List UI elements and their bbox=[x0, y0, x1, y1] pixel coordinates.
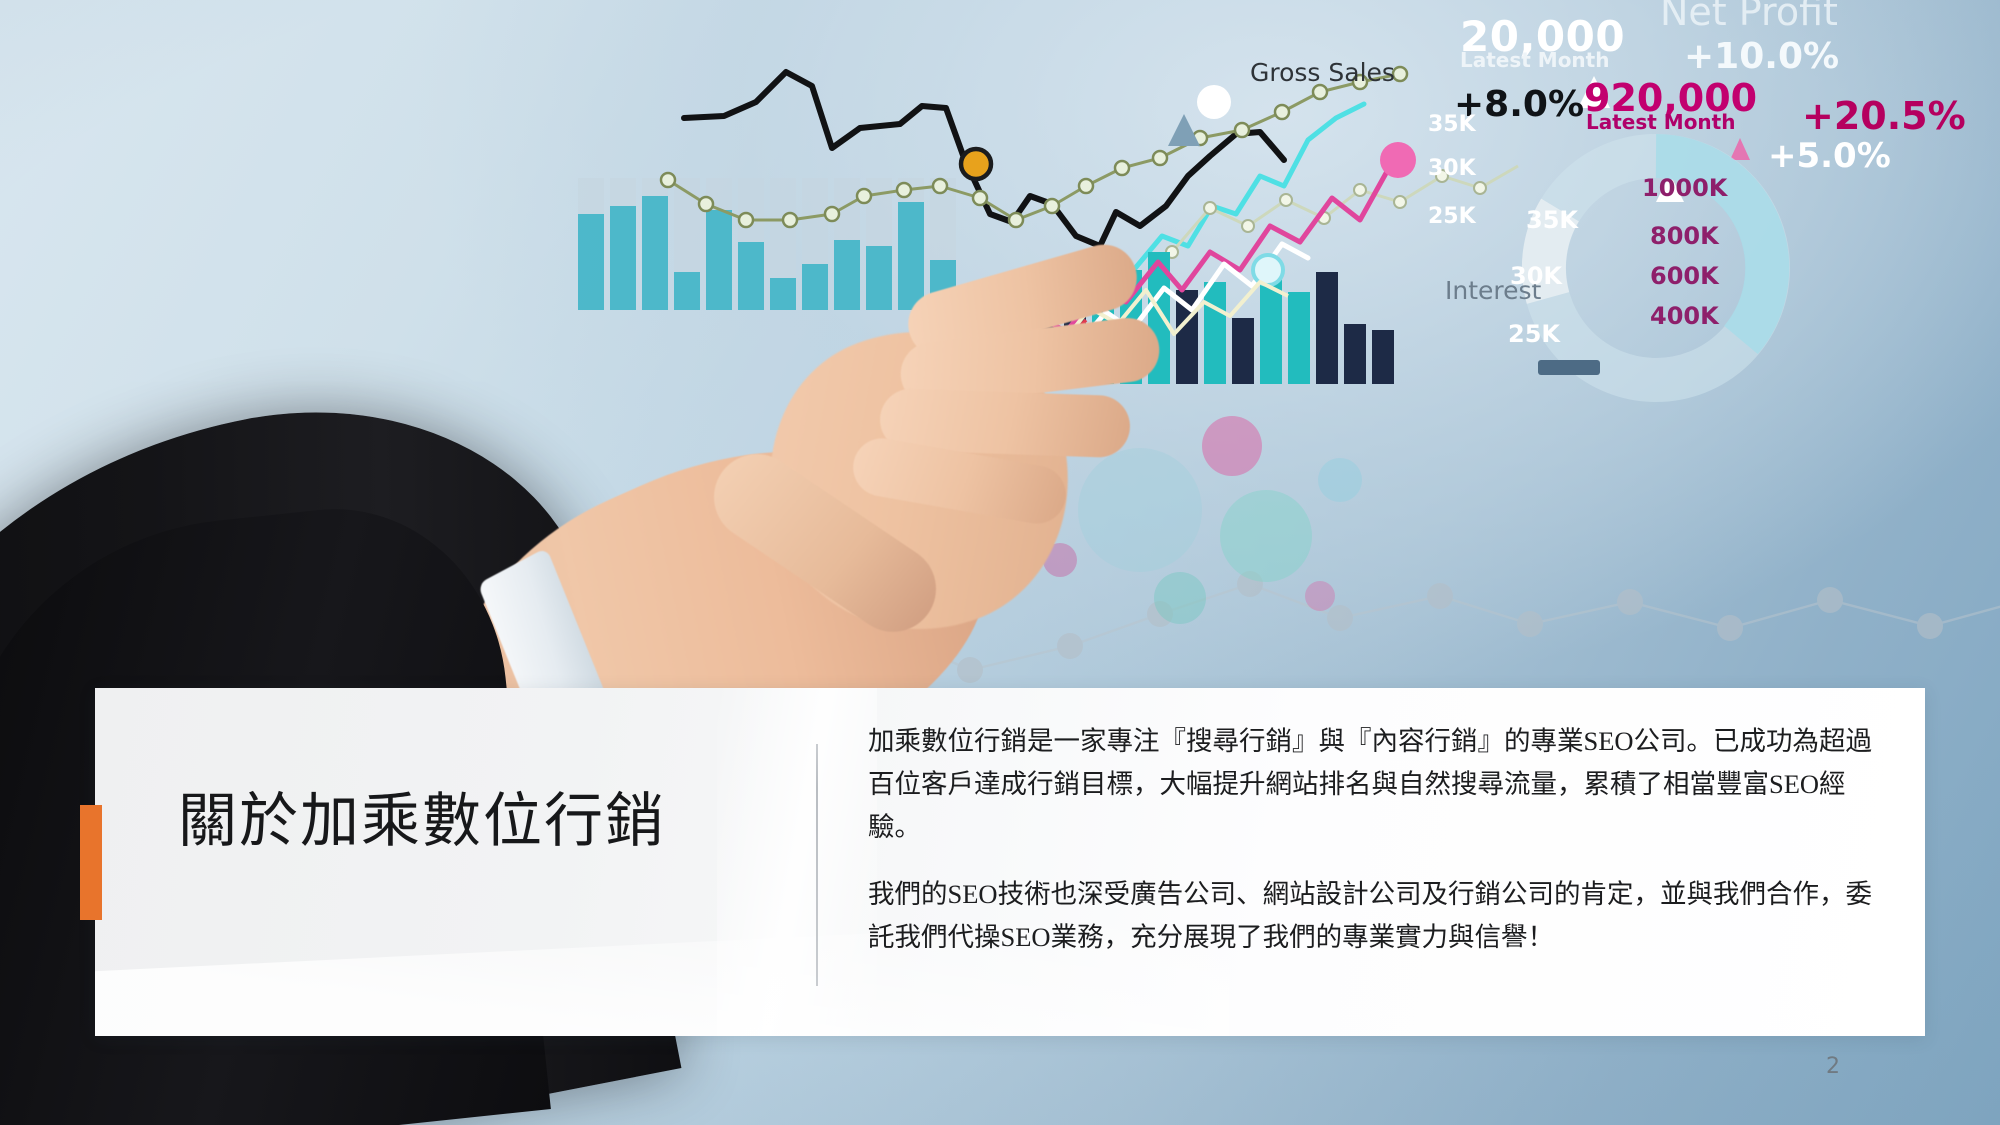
axis-tick-left-30k: 30K bbox=[1428, 156, 1476, 181]
metric-920000-sublabel: Latest Month bbox=[1586, 110, 1735, 134]
axis-tick-left-25k: 25K bbox=[1428, 204, 1476, 229]
metric-pct-205: +20.5% bbox=[1802, 94, 1966, 138]
triangle-up-blue bbox=[1168, 114, 1200, 146]
body-paragraph-1: 加乘數位行銷是一家專注『搜尋行銷』與『內容行銷』的專業SEO公司。已成功為超過百… bbox=[868, 720, 1898, 849]
cyan-dot-marker bbox=[1253, 255, 1283, 285]
white-marker bbox=[1197, 85, 1231, 119]
gross-sales-label: Gross Sales bbox=[1250, 58, 1395, 87]
pink-marker bbox=[1380, 142, 1416, 178]
metric-pct-10: +10.0% bbox=[1684, 36, 1839, 77]
accent-bar bbox=[80, 805, 102, 920]
card-sheen bbox=[717, 688, 877, 1036]
axis-tick-mid-35k: 35K bbox=[1526, 206, 1578, 234]
metric-pct-5: +5.0% bbox=[1768, 136, 1891, 176]
axis-tick-left-35k: 35K bbox=[1428, 112, 1476, 137]
axis-tick-right-1000k: 1000K bbox=[1642, 174, 1727, 202]
slide: Gross Sales Interest 20,000 Latest Month… bbox=[0, 0, 2000, 1125]
vertical-divider bbox=[816, 744, 818, 986]
axis-tick-right-800k: 800K bbox=[1650, 222, 1719, 250]
triangle-up-pink bbox=[1730, 138, 1750, 160]
axis-tick-right-400k: 400K bbox=[1650, 302, 1719, 330]
left-bar-chart bbox=[578, 178, 956, 310]
axis-tick-mid-25k: 25K bbox=[1508, 320, 1560, 348]
page-title: 關於加乘數位行銷 bbox=[178, 790, 778, 854]
page-number: 2 bbox=[1826, 1054, 1840, 1079]
net-profit-label: Net Profit bbox=[1660, 0, 1838, 34]
axis-tick-mid-30k: 30K bbox=[1510, 262, 1562, 290]
metric-20000-sublabel: Latest Month bbox=[1460, 48, 1609, 72]
body-paragraph-2: 我們的SEO技術也深受廣告公司、網站設計公司及行銷公司的肯定，並與我們合作，委託… bbox=[868, 873, 1898, 959]
body-text: 加乘數位行銷是一家專注『搜尋行銷』與『內容行銷』的專業SEO公司。已成功為超過百… bbox=[868, 720, 1898, 959]
amber-marker bbox=[961, 149, 991, 179]
axis-tick-right-600k: 600K bbox=[1650, 262, 1719, 290]
